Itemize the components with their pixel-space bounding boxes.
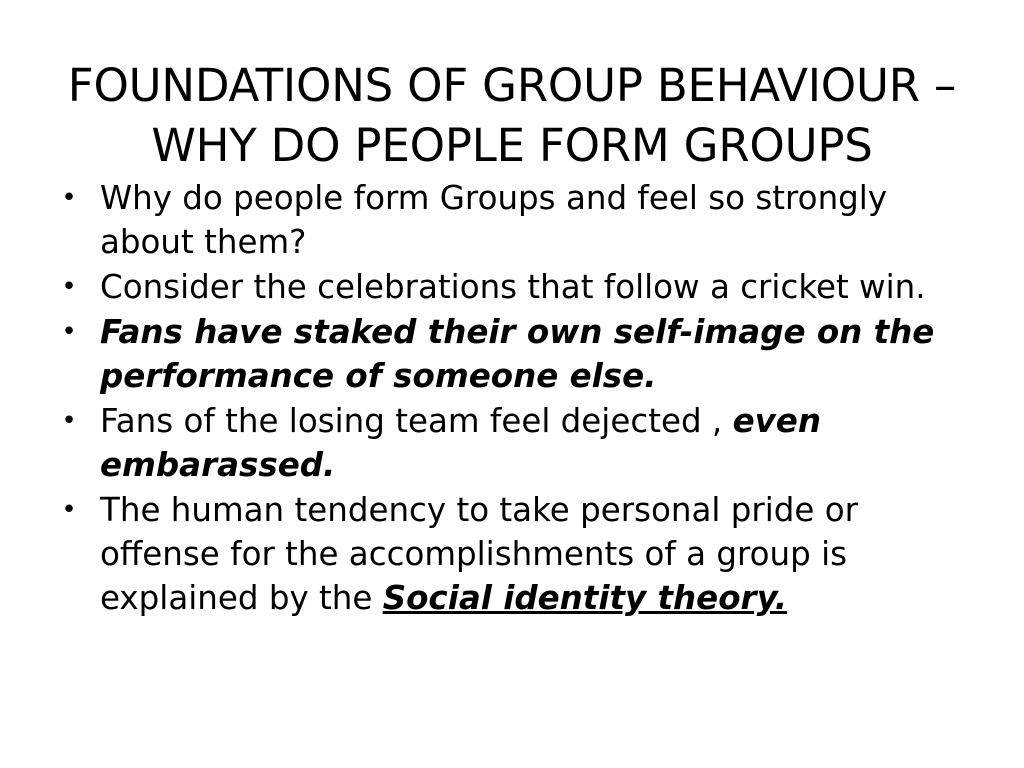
bullet-dot-icon: • [60, 265, 78, 309]
run-plain: Fans of the losing team feel dejected , [100, 402, 733, 440]
bullet-dot-icon: • [60, 399, 78, 443]
bullet-list: • Why do people form Groups and feel so … [48, 176, 960, 621]
slide-canvas: FOUNDATIONS OF GROUP BEHAVIOUR – WHY DO … [0, 0, 1024, 768]
slide-title: FOUNDATIONS OF GROUP BEHAVIOUR – WHY DO … [40, 56, 984, 176]
run-plain: Consider the celebrations that follow a … [100, 268, 926, 306]
bullet-4-text: Fans of the losing team feel dejected , … [100, 399, 960, 487]
bullet-2-text: Consider the celebrations that follow a … [100, 265, 960, 309]
list-item: • Consider the celebrations that follow … [48, 265, 960, 309]
list-item: • The human tendency to take personal pr… [48, 488, 960, 620]
bullet-dot-icon: • [60, 310, 78, 354]
run-bold-italic-underline: Social identity theory. [383, 579, 787, 617]
bullet-3-text: Fans have staked their own self-image on… [100, 310, 960, 398]
bullet-dot-icon: • [60, 488, 78, 532]
run-bold-italic: Fans have staked their own self-image on… [100, 313, 934, 395]
bullet-1-text: Why do people form Groups and feel so st… [100, 176, 960, 264]
run-plain: Why do people form Groups and feel so st… [100, 179, 887, 261]
list-item: • Fans of the losing team feel dejected … [48, 399, 960, 487]
bullet-dot-icon: • [60, 176, 78, 220]
list-item: • Why do people form Groups and feel so … [48, 176, 960, 264]
bullet-5-text: The human tendency to take personal prid… [100, 488, 960, 620]
list-item: • Fans have staked their own self-image … [48, 310, 960, 398]
